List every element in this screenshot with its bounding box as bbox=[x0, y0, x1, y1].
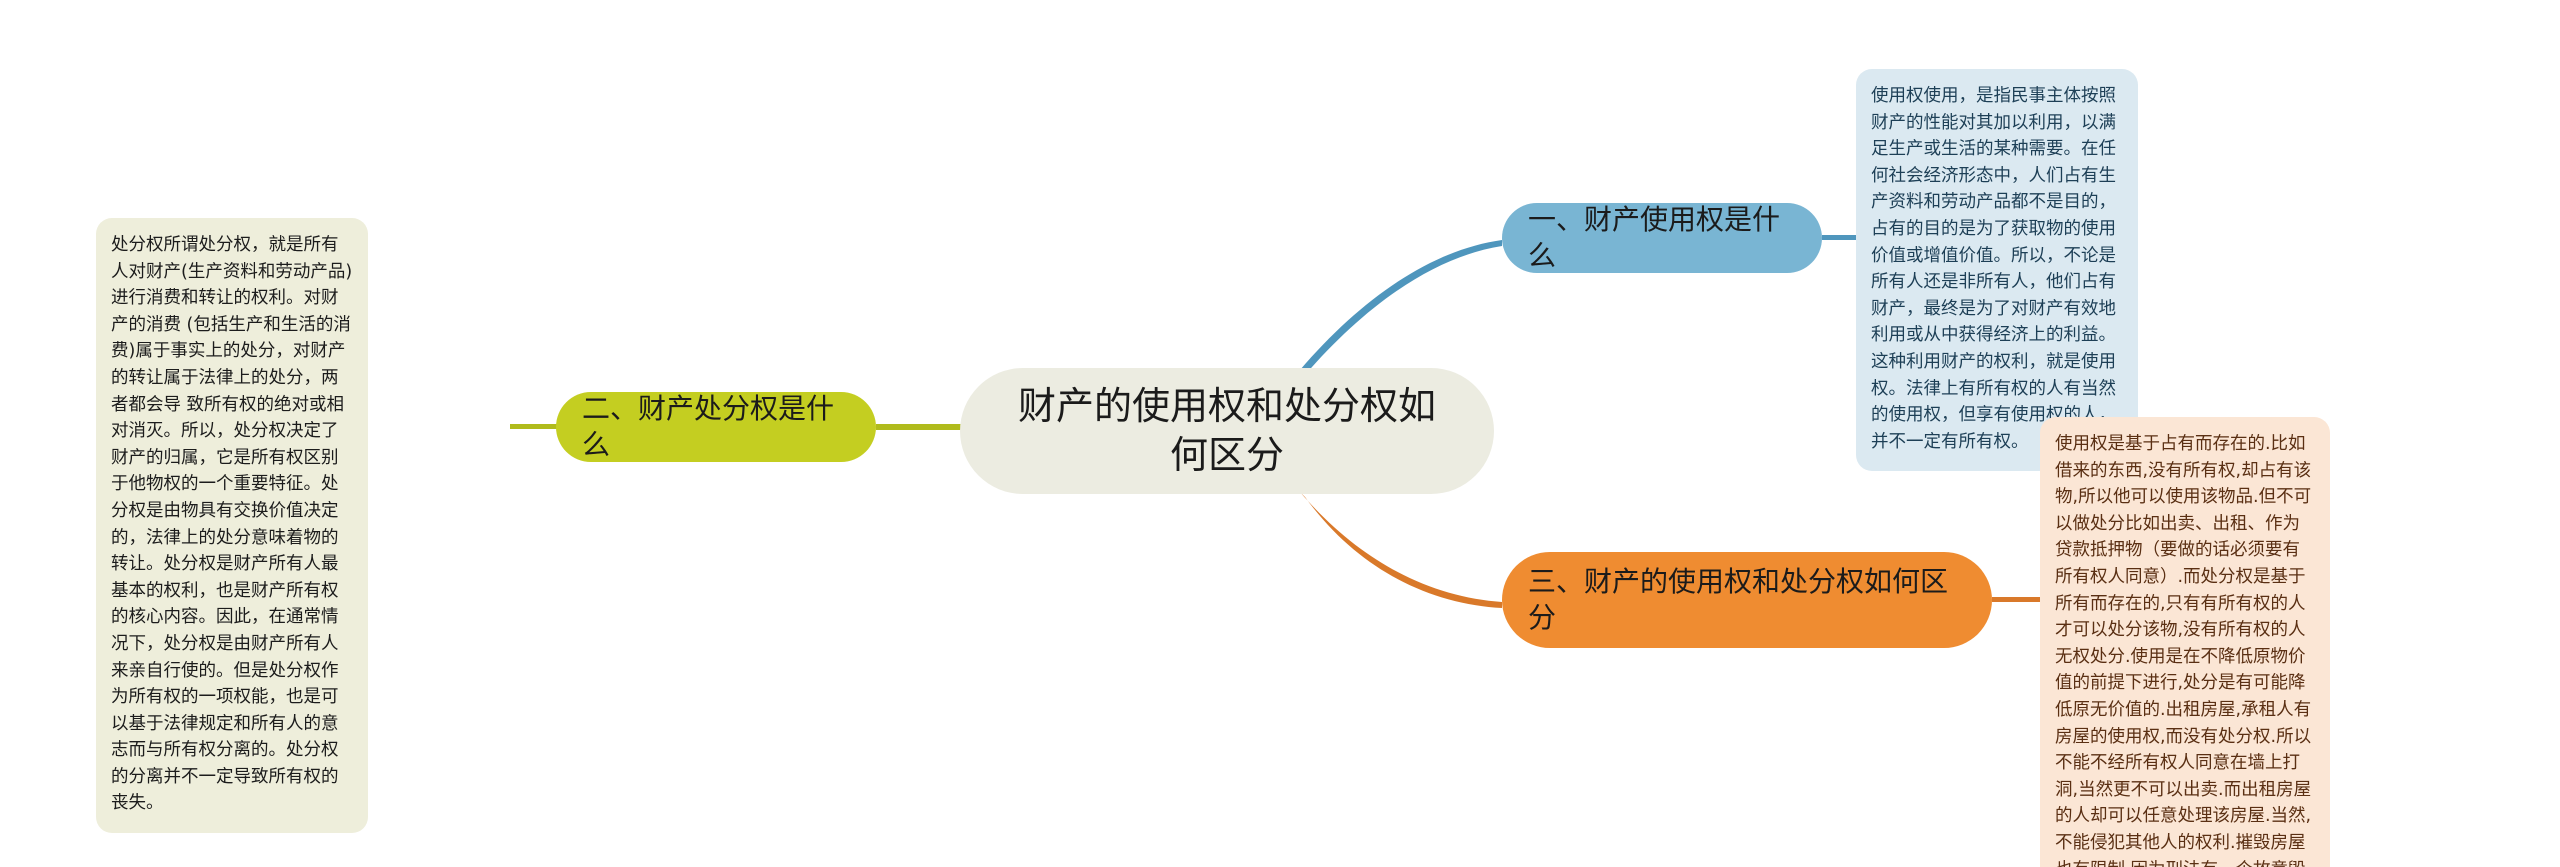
branch-node-topic-3[interactable]: 三、财产的使用权和处分权如何区分 bbox=[1502, 552, 1992, 648]
branch-node-topic-1[interactable]: 一、财产使用权是什么 bbox=[1502, 203, 1822, 273]
connector-root-to-topic-1 bbox=[1300, 240, 1502, 375]
note-box-topic-2[interactable]: 处分权所谓处分权，就是所有人对财产(生产资料和劳动产品)进行消费和转让的权利。对… bbox=[96, 218, 368, 833]
note-box-topic-1[interactable]: 使用权使用，是指民事主体按照财产的性能对其加以利用，以满足生产或生活的某种需要。… bbox=[1856, 69, 2138, 471]
note-box-topic-3[interactable]: 使用权是基于占有而存在的.比如借来的东西,没有所有权,却占有该物,所以他可以使用… bbox=[2040, 417, 2330, 867]
connector-root-to-topic-3 bbox=[1300, 492, 1502, 608]
connector-topic-1-to-note bbox=[1822, 235, 1858, 240]
note-box-topic-2-text: 处分权所谓处分权，就是所有人对财产(生产资料和劳动产品)进行消费和转让的权利。对… bbox=[111, 232, 353, 817]
note-box-topic-3-text: 使用权是基于占有而存在的.比如借来的东西,没有所有权,却占有该物,所以他可以使用… bbox=[2055, 431, 2315, 867]
branch-node-topic-1-label: 一、财产使用权是什么 bbox=[1502, 202, 1822, 274]
connector-topic-2-to-note bbox=[510, 424, 558, 429]
branch-node-topic-2-label: 二、财产处分权是什么 bbox=[556, 391, 876, 463]
connector-root-to-topic-2 bbox=[876, 424, 962, 430]
root-node[interactable]: 财产的使用权和处分权如何区分 bbox=[960, 368, 1494, 494]
branch-node-topic-3-label: 三、财产的使用权和处分权如何区分 bbox=[1502, 564, 1992, 636]
root-node-label: 财产的使用权和处分权如何区分 bbox=[960, 382, 1494, 479]
note-box-topic-1-text: 使用权使用，是指民事主体按照财产的性能对其加以利用，以满足生产或生活的某种需要。… bbox=[1871, 83, 2123, 455]
connector-topic-3-to-note bbox=[1992, 597, 2042, 602]
mindmap-canvas: 财产的使用权和处分权如何区分 一、财产使用权是什么 二、财产处分权是什么 三、财… bbox=[0, 0, 2560, 867]
branch-node-topic-2[interactable]: 二、财产处分权是什么 bbox=[556, 392, 876, 462]
